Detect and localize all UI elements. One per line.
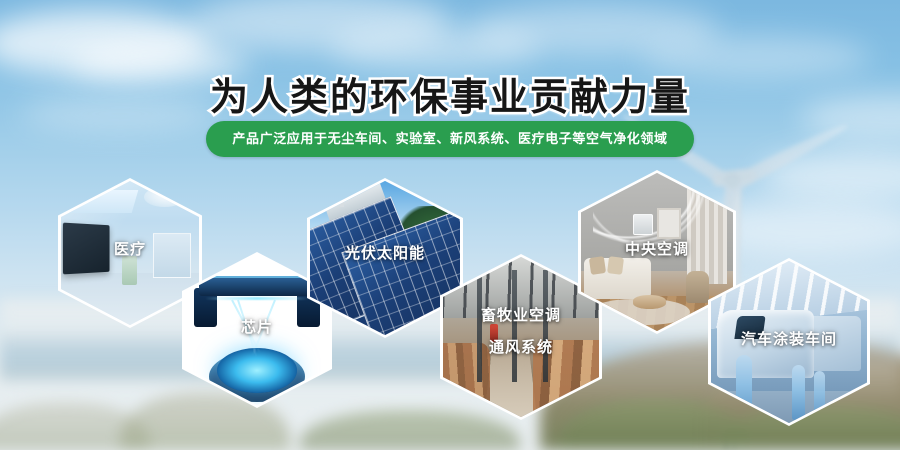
roof-pipe xyxy=(340,183,344,208)
barn-aisle xyxy=(484,352,537,417)
hexagon-inner: 医疗 xyxy=(61,181,199,325)
hexagon-label-central-ac: 中央空调 xyxy=(581,239,733,262)
hexagon-card-livestock[interactable]: 畜牧业空调 通风系统 xyxy=(440,254,602,420)
coffee-table xyxy=(633,295,666,309)
hexagon-label-solar: 光伏太阳能 xyxy=(310,243,460,266)
hexagon-inner: 光伏太阳能 xyxy=(310,181,460,335)
worker xyxy=(814,371,825,420)
hexagon-inner: 畜牧业空调 通风系统 xyxy=(443,257,599,417)
led-strip xyxy=(205,297,309,300)
worker xyxy=(792,365,804,420)
wall-art-frame xyxy=(657,208,681,239)
hexagon-label-livestock-line1: 畜牧业空调 xyxy=(443,305,599,328)
surgical-lamp xyxy=(144,187,185,207)
hexagon-card-medical[interactable]: 医疗 xyxy=(58,178,202,328)
hexagon-label-medical: 医疗 xyxy=(61,239,199,262)
shop-floor xyxy=(711,391,867,423)
promo-banner: 为人类的环保事业贡献力量 产品广泛应用于无尘车间、实验室、新风系统、医疗电子等空… xyxy=(0,0,900,450)
hexagon-label-autopaint: 汽车涂装车间 xyxy=(711,329,867,352)
hexagon-label-livestock-line2: 通风系统 xyxy=(443,337,599,360)
ac-vent xyxy=(633,214,653,235)
worker xyxy=(736,355,752,420)
hexagon-label-chip: 芯片 xyxy=(185,317,329,340)
machine-head xyxy=(199,276,314,296)
armchair xyxy=(686,271,709,303)
application-hexagon-grid: 医疗 芯片 xyxy=(0,0,900,450)
